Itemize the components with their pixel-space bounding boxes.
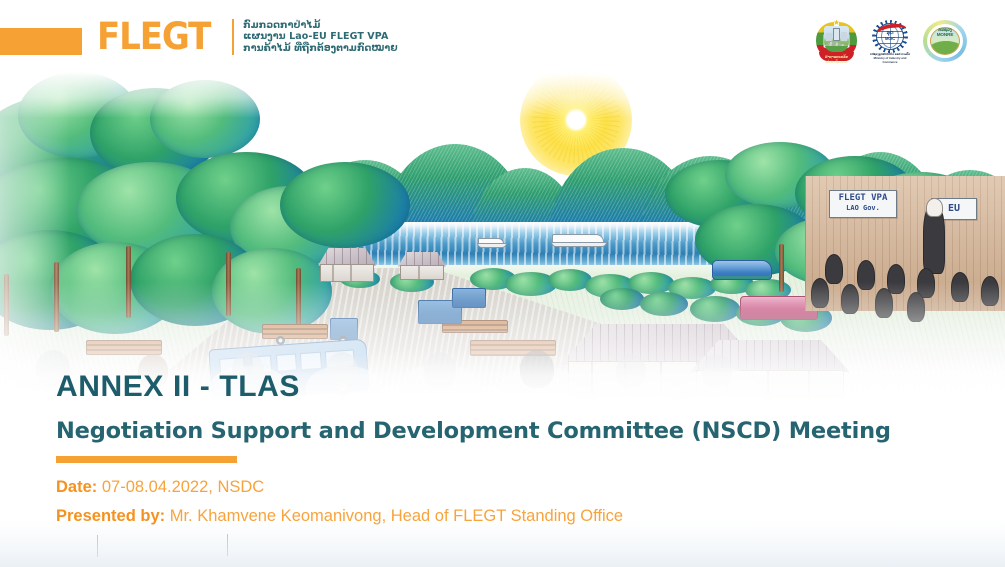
moic-badge: ອຸດ MOIC bbox=[880, 30, 900, 42]
page-title: ANNEX II - TLAS bbox=[56, 370, 300, 404]
presented-by-value: Mr. Khamvene Keomanivong, Head of FLEGT … bbox=[170, 507, 623, 525]
illustration-banner: FLEGT VPA FLEGT VPA LAO Gov. EU bbox=[0, 72, 1005, 402]
boat bbox=[478, 238, 504, 245]
presented-by-label: Presented by: bbox=[56, 507, 165, 525]
slide-subtitle: Negotiation Support and Development Comm… bbox=[56, 418, 891, 444]
orange-accent-block bbox=[0, 28, 82, 55]
date-line: Date: 07-08.04.2022, NSDC bbox=[56, 478, 264, 497]
monre-text-line-2: MONRE bbox=[923, 32, 967, 37]
riverside-shed bbox=[318, 248, 376, 282]
moic-caption: ກະຊວງອຸດສາຫະກຳ ແລະ ການຄ້າ Ministry of In… bbox=[866, 53, 914, 64]
illustration-canvas: FLEGT VPA FLEGT VPA LAO Gov. EU bbox=[0, 72, 1005, 402]
date-value: 07-08.04.2022, NSDC bbox=[102, 478, 264, 496]
moic-badge-line-2: MOIC bbox=[885, 36, 895, 41]
emblem-banner-text: ສາທາລະນະລັດ ປະຊາຊົນລາວ bbox=[819, 54, 854, 64]
date-label: Date: bbox=[56, 478, 97, 496]
ministry-of-industry-and-commerce-icon: ອຸດ MOIC ກະຊວງອຸດສາຫະກຳ ແລະ ການຄ້າ Minis… bbox=[866, 20, 914, 63]
boat bbox=[552, 234, 604, 244]
tagline-line-1: ກົມກວດກາປ່າໄມ້ bbox=[243, 20, 398, 32]
tagline-line-2: ແຜນງານ Lao-EU FLEGT VPA bbox=[243, 31, 398, 43]
partner-logos: ★ ສາທາລະນະລັດ ປະຊາຊົນລາວ bbox=[816, 20, 967, 63]
tagline-line-3: ການຄ້າໄມ້ ທີ່ຖືກຕ້ອງຕາມກົດໝາຍ bbox=[243, 43, 398, 55]
presentation-slide: FLEGT VPA FLEGT VPA LAO Gov. EU bbox=[0, 0, 1005, 567]
signboard-flegt-vpa-lao-gov: FLEGT VPA LAO Gov. bbox=[829, 190, 897, 218]
flegt-wordmark: FLEGT bbox=[97, 18, 210, 56]
riverside-shed bbox=[398, 252, 446, 280]
monre-icon: ກະຊວງ MONRE bbox=[923, 20, 967, 62]
presenter-head bbox=[926, 198, 943, 217]
flegt-logo: FLEGT ກົມກວດກາປ່າໄມ້ ແຜນງານ Lao-EU FLEGT… bbox=[97, 18, 398, 56]
illustration-top-fade bbox=[0, 72, 1005, 118]
presenter-line: Presented by: Mr. Khamvene Keomanivong, … bbox=[56, 507, 623, 526]
flegt-tagline: ກົມກວດກາປ່າໄມ້ ແຜນງານ Lao-EU FLEGT VPA ກ… bbox=[243, 20, 398, 55]
white-bus bbox=[712, 260, 772, 280]
monre-text: ກະຊວງ MONRE bbox=[923, 27, 967, 38]
signboard-line-1: FLEGT VPA bbox=[830, 193, 896, 203]
moic-caption-line-2: Ministry of Industry and Commerce bbox=[866, 57, 914, 65]
signboard-line-2: LAO Gov. bbox=[830, 204, 896, 212]
lao-national-emblem-icon: ★ ສາທາລະນະລັດ ປະຊາຊົນລາວ bbox=[816, 20, 857, 61]
hills-icon bbox=[930, 41, 960, 54]
orange-accent-bar bbox=[56, 456, 237, 463]
logo-divider bbox=[232, 19, 234, 55]
slide-header: FLEGT ກົມກວດກາປ່າໄມ້ ແຜນງານ Lao-EU FLEGT… bbox=[0, 0, 1005, 72]
slide-text-block: ANNEX II - TLAS Negotiation Support and … bbox=[0, 360, 1005, 567]
